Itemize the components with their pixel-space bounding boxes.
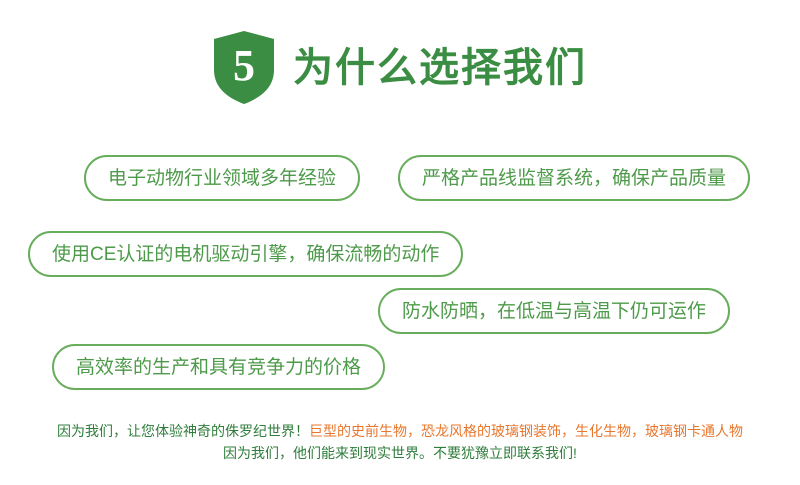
feature-pill-3-label: 使用CE认证的电机驱动引擎，确保流畅的动作 [52,245,439,264]
footer-line-1-highlight: 巨型的史前生物，恐龙风格的玻璃钢装饰，生化生物，玻璃钢卡通人物 [309,423,743,439]
feature-pill-5: 高效率的生产和具有竞争力的价格 [52,344,385,390]
footer-line-1-prefix: 因为我们，让您体验神奇的侏罗纪世界！ [57,423,309,439]
feature-pill-1: 电子动物行业领域多年经验 [84,155,360,201]
feature-pill-4-label: 防水防晒，在低温与高温下仍可运作 [402,302,706,321]
page-title: 为什么选择我们 [293,48,587,88]
feature-pill-2: 严格产品线监督系统，确保产品质量 [398,155,750,201]
footer-line-2: 因为我们，他们能来到现实世界。不要犹豫立即联系我们! [0,442,800,464]
feature-pill-2-label: 严格产品线监督系统，确保产品质量 [422,169,726,188]
page-header: 5 为什么选择我们 [0,30,800,106]
feature-pill-1-label: 电子动物行业领域多年经验 [108,169,336,188]
feature-pill-4: 防水防晒，在低温与高温下仍可运作 [378,288,730,334]
footer-line-1: 因为我们，让您体验神奇的侏罗纪世界！巨型的史前生物，恐龙风格的玻璃钢装饰，生化生… [0,420,800,442]
feature-pill-5-label: 高效率的生产和具有竞争力的价格 [76,358,361,377]
shield-badge-icon: 5 [213,30,275,106]
footer-text: 因为我们，让您体验神奇的侏罗纪世界！巨型的史前生物，恐龙风格的玻璃钢装饰，生化生… [0,420,800,464]
badge-number: 5 [213,30,275,100]
feature-pill-3: 使用CE认证的电机驱动引擎，确保流畅的动作 [28,231,463,277]
promo-page: 5 为什么选择我们 电子动物行业领域多年经验 严格产品线监督系统，确保产品质量 … [0,0,800,485]
